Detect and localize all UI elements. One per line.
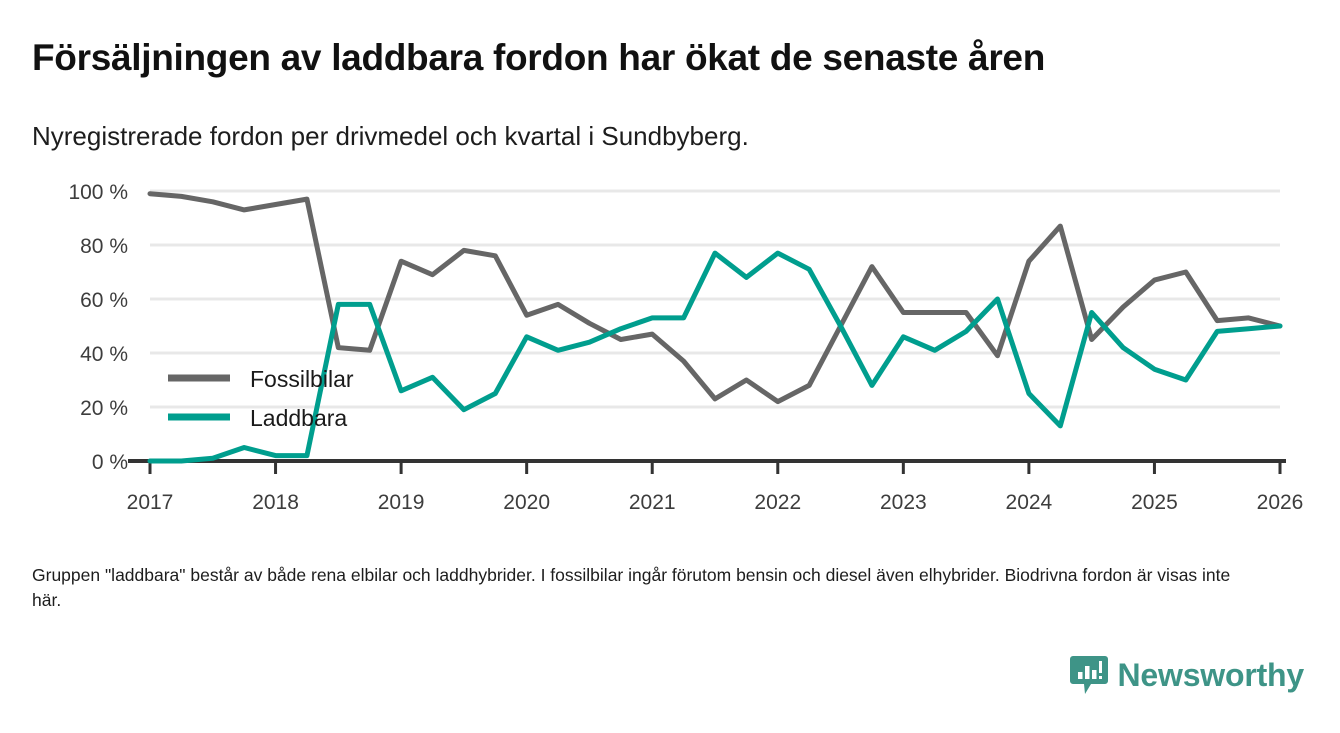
x-axis-tick-label: 2024 [1006, 491, 1053, 514]
chart-page: Försäljningen av laddbara fordon har öka… [0, 0, 1340, 733]
x-axis-tick-label: 2019 [378, 491, 425, 514]
x-axis-tick-label: 2017 [127, 491, 174, 514]
legend-item: Laddbara [168, 405, 347, 431]
x-axis-tick-label: 2022 [754, 491, 801, 514]
legend-label: Fossilbilar [250, 366, 354, 392]
chart-footnote: Gruppen "laddbara" består av både rena e… [32, 563, 1247, 613]
line-chart: 0 %20 %40 %60 %80 %100 % 201720182019202… [0, 165, 1340, 520]
page-title: Försäljningen av laddbara fordon har öka… [32, 37, 1045, 79]
newsworthy-logo[interactable]: Newsworthy [1070, 654, 1305, 696]
x-axis-tick-label: 2020 [503, 491, 550, 514]
y-axis-tick-label: 20 % [80, 397, 128, 420]
chart-legend: FossilbilarLaddbara [168, 366, 354, 431]
x-axis-tick-label: 2018 [252, 491, 299, 514]
y-axis-tick-label: 40 % [80, 343, 128, 366]
x-axis-tick-label: 2025 [1131, 491, 1178, 514]
x-axis-tick-label: 2021 [629, 491, 676, 514]
page-subtitle: Nyregistrerade fordon per drivmedel och … [32, 121, 749, 152]
x-axis-tick-labels: 2017201820192020202120222023202420252026 [127, 491, 1304, 514]
y-axis-tick-label: 60 % [80, 289, 128, 312]
x-axis-tick-label: 2023 [880, 491, 927, 514]
y-axis-tick-label: 100 % [68, 181, 128, 204]
legend-item: Fossilbilar [168, 366, 354, 392]
y-axis-tick-label: 0 % [92, 451, 128, 474]
legend-label: Laddbara [250, 405, 347, 431]
y-axis-tick-label: 80 % [80, 235, 128, 258]
y-axis-tick-labels: 0 %20 %40 %60 %80 %100 % [68, 181, 128, 474]
chart-container: 0 %20 %40 %60 %80 %100 % 201720182019202… [0, 165, 1340, 520]
x-axis-tick-label: 2026 [1257, 491, 1304, 514]
newsworthy-wordmark: Newsworthy [1118, 659, 1305, 691]
bar-chart-speech-bubble-icon [1070, 654, 1108, 696]
